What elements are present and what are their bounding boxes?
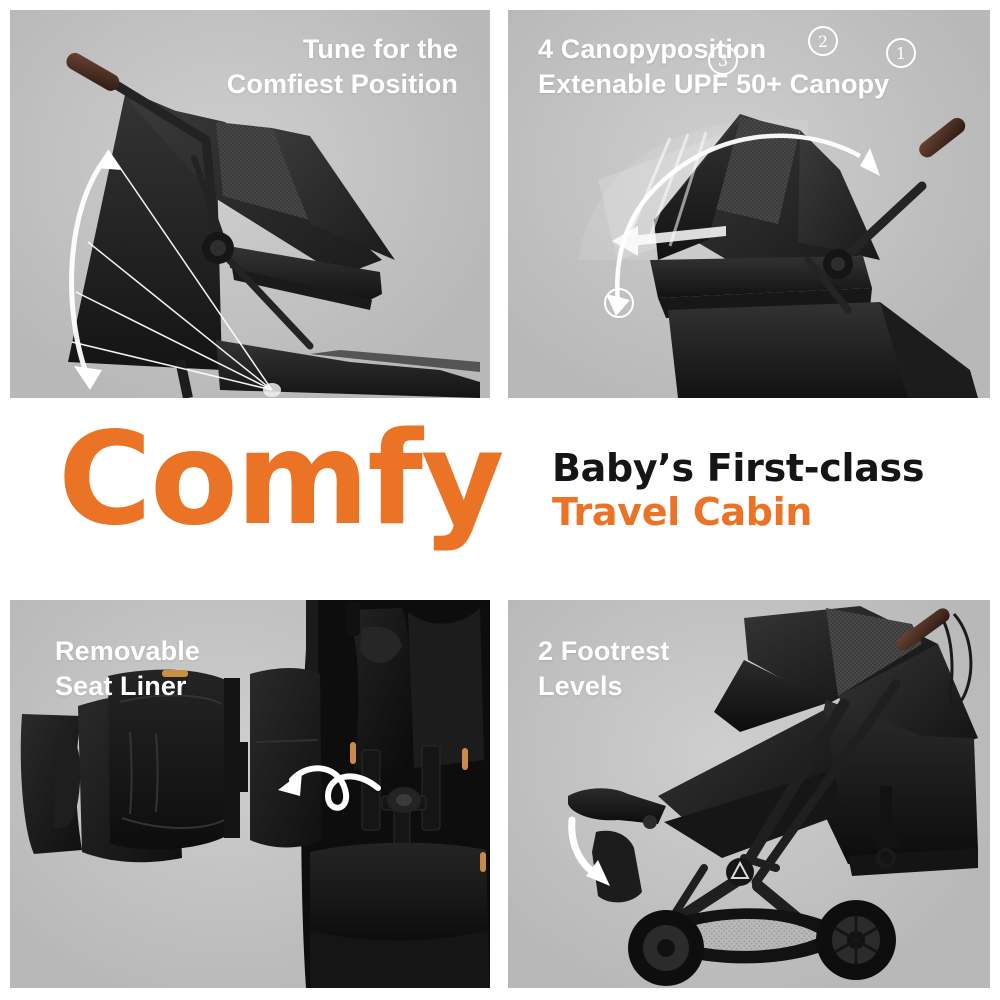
panel-recline: Tune for the Comfiest Position <box>10 10 490 398</box>
brand-tagline: Baby’s First-class Travel Cabin <box>552 446 924 534</box>
panel-canopy: 1 2 3 4 4 Canopyposition Extenable UPF 5… <box>508 10 990 398</box>
panel-caption-seat-liner: Removable Seat Liner <box>55 634 200 703</box>
panel-footrest: 2 Footrest Levels <box>508 600 990 988</box>
canopy-badge-4: 4 <box>604 288 634 318</box>
brand-banner: Comfy Baby’s First-class Travel Cabin <box>0 398 1000 600</box>
infographic-sheet: Tune for the Comfiest Position <box>0 0 1000 1000</box>
tagline-line-1: Baby’s First-class <box>552 446 924 490</box>
brand-logo-word: Comfy <box>58 416 502 544</box>
panel-caption-footrest: 2 Footrest Levels <box>538 634 670 703</box>
canopy-badge-1: 1 <box>886 38 916 68</box>
panel-caption-recline: Tune for the Comfiest Position <box>227 32 458 101</box>
panel-caption-canopy: 4 Canopyposition Extenable UPF 50+ Canop… <box>538 32 889 101</box>
panel-seat-liner: Removable Seat Liner <box>10 600 490 988</box>
tagline-line-2: Travel Cabin <box>552 490 924 534</box>
